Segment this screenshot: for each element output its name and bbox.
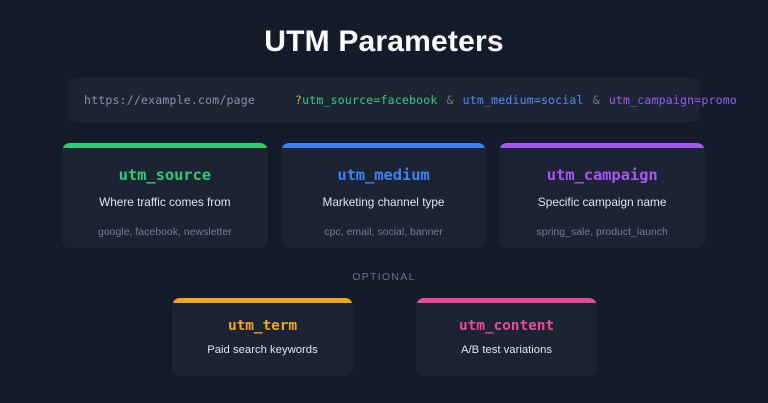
param-description: Marketing channel type [281,195,487,209]
accent-bar [281,143,487,148]
param-name: utm_content [416,318,597,334]
param-name: utm_campaign [499,166,705,184]
optional-parameters-row: utm_term Paid search keywords utm_conten… [172,298,597,376]
accent-bar [499,143,705,148]
param-description: Specific campaign name [499,195,705,209]
param-description: Paid search keywords [172,344,353,356]
url-question-mark: ? [295,93,302,107]
optional-section-label: OPTIONAL [0,271,768,283]
param-card-utm-campaign[interactable]: utm_campaign Specific campaign name spri… [499,143,705,248]
url-base-text: https://example.com/page [84,93,255,107]
param-card-utm-medium[interactable]: utm_medium Marketing channel type cpc, e… [281,143,487,248]
url-param-utm-source: utm_source=facebook [302,93,437,107]
param-card-utm-source[interactable]: utm_source Where traffic comes from goog… [62,143,268,248]
param-name: utm_term [172,318,353,334]
required-parameters-row: utm_source Where traffic comes from goog… [62,143,705,248]
url-param-utm-campaign: utm_campaign=promo [609,93,737,107]
page-title: UTM Parameters [0,0,768,60]
param-name: utm_medium [281,166,487,184]
param-examples: cpc, email, social, banner [281,226,487,238]
param-name: utm_source [62,166,268,184]
param-card-utm-content[interactable]: utm_content A/B test variations [416,298,597,376]
param-description: A/B test variations [416,344,597,356]
param-examples: google, facebook, newsletter [62,226,268,238]
param-examples: spring_sale, product_launch [499,226,705,238]
url-example-text: https://example.com/page ? utm_source=fa… [84,78,737,122]
url-param-utm-medium: utm_medium=social [463,93,584,107]
utm-parameters-page: UTM Parameters https://example.com/page … [0,0,768,403]
url-example-bar: https://example.com/page ? utm_source=fa… [68,78,700,122]
accent-bar [416,298,597,303]
url-ampersand: & [593,93,600,107]
accent-bar [62,143,268,148]
url-ampersand: & [446,93,453,107]
param-description: Where traffic comes from [62,195,268,209]
param-card-utm-term[interactable]: utm_term Paid search keywords [172,298,353,376]
accent-bar [172,298,353,303]
